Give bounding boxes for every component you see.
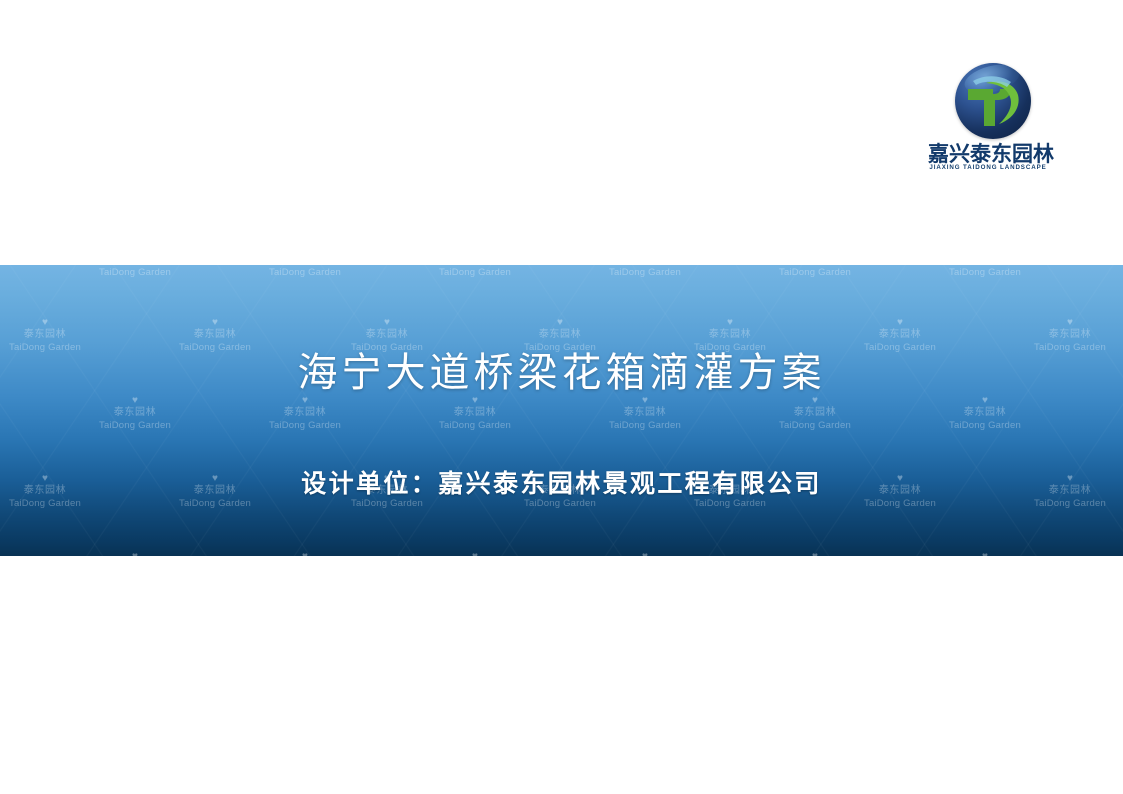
company-logo: 嘉兴泰东园林 JIAXING TAIDONG LANDSCAPE [928, 63, 1048, 181]
watermark-text-en: TaiDong Garden [735, 420, 895, 432]
watermark-text-cn: 泰东园林 [395, 406, 555, 420]
heart-icon: ♥ [650, 318, 810, 328]
watermark-text-cn: 泰东园林 [905, 406, 1065, 420]
watermark-text-cn: 泰东园林 [735, 265, 895, 267]
watermark-text-cn: 泰东园林 [905, 265, 1065, 267]
watermark-item: ♥泰东园林TaiDong Garden [225, 552, 385, 556]
watermark-text-cn: 泰东园林 [480, 328, 640, 342]
heart-icon: ♥ [395, 552, 555, 556]
watermark-item: ♥泰东园林TaiDong Garden [55, 265, 215, 279]
watermark-item: ♥泰东园林TaiDong Garden [735, 552, 895, 556]
watermark-text-cn: 泰东园林 [565, 265, 725, 267]
watermark-text-cn: 泰东园林 [0, 328, 125, 342]
heart-icon: ♥ [990, 318, 1123, 328]
page-title: 海宁大道桥梁花箱滴灌方案 [0, 348, 1123, 398]
globe-icon [955, 63, 1031, 139]
watermark-item: ♥泰东园林TaiDong Garden [395, 396, 555, 432]
heart-icon: ♥ [905, 552, 1065, 556]
watermark-item: ♥泰东园林TaiDong Garden [905, 396, 1065, 432]
watermark-item: ♥泰东园林TaiDong Garden [395, 265, 555, 279]
watermark-layer: ♥泰东园林TaiDong Garden♥泰东园林TaiDong Garden♥泰… [0, 265, 1123, 556]
heart-icon: ♥ [55, 552, 215, 556]
td-monogram-icon [955, 63, 1031, 139]
watermark-item: ♥泰东园林TaiDong Garden [225, 265, 385, 279]
watermark-item: ♥泰东园林TaiDong Garden [395, 552, 555, 556]
watermark-text-cn: 泰东园林 [307, 328, 467, 342]
watermark-text-en: TaiDong Garden [225, 420, 385, 432]
watermark-text-en: TaiDong Garden [395, 420, 555, 432]
watermark-text-cn: 泰东园林 [565, 406, 725, 420]
title-banner: ♥泰东园林TaiDong Garden♥泰东园林TaiDong Garden♥泰… [0, 265, 1123, 556]
watermark-text-cn: 泰东园林 [135, 328, 295, 342]
watermark-text-cn: 泰东园林 [55, 406, 215, 420]
watermark-text-en: TaiDong Garden [395, 267, 555, 279]
heart-icon: ♥ [307, 318, 467, 328]
watermark-text-cn: 泰东园林 [225, 406, 385, 420]
watermark-text-cn: 泰东园林 [395, 265, 555, 267]
watermark-item: ♥泰东园林TaiDong Garden [735, 396, 895, 432]
watermark-text-en: TaiDong Garden [55, 420, 215, 432]
heart-icon: ♥ [820, 318, 980, 328]
logo-name-cn: 嘉兴泰东园林 [928, 143, 1048, 165]
watermark-item: ♥泰东园林TaiDong Garden [905, 552, 1065, 556]
watermark-text-cn: 泰东园林 [225, 265, 385, 267]
watermark-text-cn: 泰东园林 [820, 328, 980, 342]
watermark-item: ♥泰东园林TaiDong Garden [55, 396, 215, 432]
watermark-item: ♥泰东园林TaiDong Garden [565, 396, 725, 432]
watermark-item: ♥泰东园林TaiDong Garden [225, 396, 385, 432]
watermark-text-en: TaiDong Garden [565, 267, 725, 279]
watermark-item: ♥泰东园林TaiDong Garden [565, 265, 725, 279]
watermark-text-en: TaiDong Garden [55, 267, 215, 279]
heart-icon: ♥ [135, 318, 295, 328]
heart-icon: ♥ [565, 552, 725, 556]
watermark-text-en: TaiDong Garden [225, 267, 385, 279]
watermark-text-cn: 泰东园林 [990, 328, 1123, 342]
watermark-text-cn: 泰东园林 [735, 406, 895, 420]
watermark-text-en: TaiDong Garden [735, 267, 895, 279]
heart-icon: ♥ [735, 552, 895, 556]
heart-icon: ♥ [480, 318, 640, 328]
watermark-item: ♥泰东园林TaiDong Garden [905, 265, 1065, 279]
watermark-text-cn: 泰东园林 [55, 265, 215, 267]
watermark-item: ♥泰东园林TaiDong Garden [565, 552, 725, 556]
heart-icon: ♥ [0, 318, 125, 328]
page-subtitle: 设计单位：嘉兴泰东园林景观工程有限公司 [0, 468, 1123, 500]
watermark-text-en: TaiDong Garden [905, 420, 1065, 432]
banner-diagonal-pattern [0, 265, 1123, 556]
watermark-text-cn: 泰东园林 [650, 328, 810, 342]
heart-icon: ♥ [225, 552, 385, 556]
watermark-item: ♥泰东园林TaiDong Garden [55, 552, 215, 556]
watermark-text-en: TaiDong Garden [565, 420, 725, 432]
watermark-text-en: TaiDong Garden [905, 267, 1065, 279]
logo-name-en: JIAXING TAIDONG LANDSCAPE [928, 164, 1048, 171]
watermark-item: ♥泰东园林TaiDong Garden [735, 265, 895, 279]
